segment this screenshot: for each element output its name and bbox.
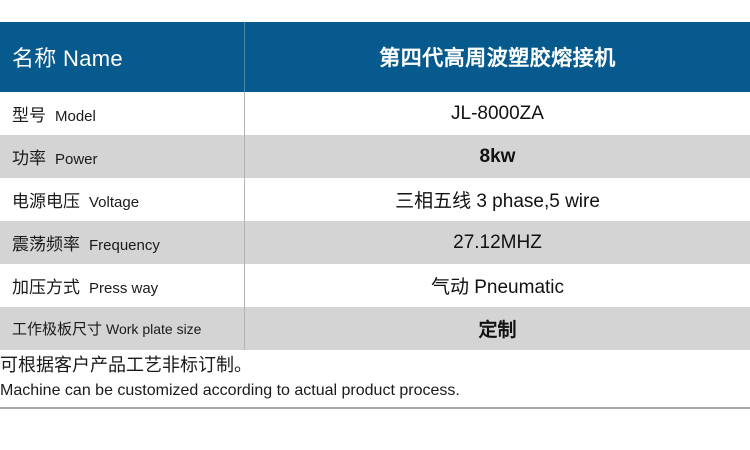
spec-label-cell-frequency: 震荡频率Frequency bbox=[0, 221, 245, 264]
spec-label-work-plate-size: 工作极板尺寸Work plate size bbox=[0, 318, 244, 339]
specification-table: 名称 Name 第四代高周波塑胶熔接机 型号Model JL-8000ZA bbox=[0, 22, 750, 409]
spec-label-model: 型号Model bbox=[0, 101, 244, 126]
spec-label-cn: 震荡频率 bbox=[12, 235, 80, 254]
customization-note-en: Machine can be customized according to a… bbox=[0, 380, 750, 402]
spec-label-en: Power bbox=[55, 151, 98, 168]
header-value-cell: 第四代高周波塑胶熔接机 bbox=[245, 22, 750, 92]
spec-label-cell-model: 型号Model bbox=[0, 92, 245, 135]
spec-label-power: 功率Power bbox=[0, 144, 244, 169]
spec-value-model: JL-8000ZA bbox=[245, 103, 750, 125]
spec-value-cell-work-plate-size: 定制 bbox=[245, 307, 750, 350]
customization-note: 可根据客户产品工艺非标订制。 Machine can be customized… bbox=[0, 350, 750, 408]
spec-value-cell-press-way: 气动 Pneumatic bbox=[245, 264, 750, 307]
table-row: 震荡频率Frequency 27.12MHZ bbox=[0, 221, 750, 264]
spec-label-frequency: 震荡频率Frequency bbox=[0, 230, 244, 255]
table-header-row: 名称 Name 第四代高周波塑胶熔接机 bbox=[0, 22, 750, 92]
spec-label-cell-work-plate-size: 工作极板尺寸Work plate size bbox=[0, 307, 245, 350]
spec-value-cell-frequency: 27.12MHZ bbox=[245, 221, 750, 264]
product-title: 第四代高周波塑胶熔接机 bbox=[245, 42, 750, 72]
customization-note-cn: 可根据客户产品工艺非标订制。 bbox=[0, 355, 750, 377]
table-row: 工作极板尺寸Work plate size 定制 bbox=[0, 307, 750, 350]
table-row: 型号Model JL-8000ZA bbox=[0, 92, 750, 135]
spec-value-cell-model: JL-8000ZA bbox=[245, 92, 750, 135]
table-row: 加压方式Press way 气动 Pneumatic bbox=[0, 264, 750, 307]
spec-value-cell-voltage: 三相五线 3 phase,5 wire bbox=[245, 178, 750, 221]
table-row: 电源电压Voltage 三相五线 3 phase,5 wire bbox=[0, 178, 750, 221]
spec-label-en: Model bbox=[55, 108, 96, 125]
spec-value-power: 8kw bbox=[245, 146, 750, 168]
spec-label-cn: 加压方式 bbox=[12, 278, 80, 297]
spec-value-work-plate-size: 定制 bbox=[245, 315, 750, 342]
spec-label-cn: 工作极板尺寸 bbox=[12, 321, 102, 338]
spec-value-frequency: 27.12MHZ bbox=[245, 232, 750, 254]
header-label-cell: 名称 Name bbox=[0, 22, 245, 92]
spec-value-press-way: 气动 Pneumatic bbox=[245, 272, 750, 299]
spec-label-cell-voltage: 电源电压Voltage bbox=[0, 178, 245, 221]
top-spacer bbox=[0, 0, 750, 22]
spec-value-cell-power: 8kw bbox=[245, 135, 750, 178]
spec-label-press-way: 加压方式Press way bbox=[0, 273, 244, 298]
spec-label-cn: 功率 bbox=[12, 149, 46, 168]
spec-label-en: Frequency bbox=[89, 237, 160, 254]
table-footer-row: 可根据客户产品工艺非标订制。 Machine can be customized… bbox=[0, 350, 750, 408]
spec-label-en: Work plate size bbox=[106, 321, 201, 337]
spec-label-cell-power: 功率Power bbox=[0, 135, 245, 178]
product-specification-sheet: 名称 Name 第四代高周波塑胶熔接机 型号Model JL-8000ZA bbox=[0, 0, 750, 450]
header-name-label: 名称 Name bbox=[0, 41, 244, 73]
spec-label-voltage: 电源电压Voltage bbox=[0, 187, 244, 212]
spec-label-en: Press way bbox=[89, 280, 158, 297]
spec-label-en: Voltage bbox=[89, 194, 139, 211]
spec-label-cn: 型号 bbox=[12, 106, 46, 125]
spec-label-cell-press-way: 加压方式Press way bbox=[0, 264, 245, 307]
spec-value-voltage: 三相五线 3 phase,5 wire bbox=[245, 186, 750, 213]
spec-label-cn: 电源电压 bbox=[12, 192, 80, 211]
table-row: 功率Power 8kw bbox=[0, 135, 750, 178]
